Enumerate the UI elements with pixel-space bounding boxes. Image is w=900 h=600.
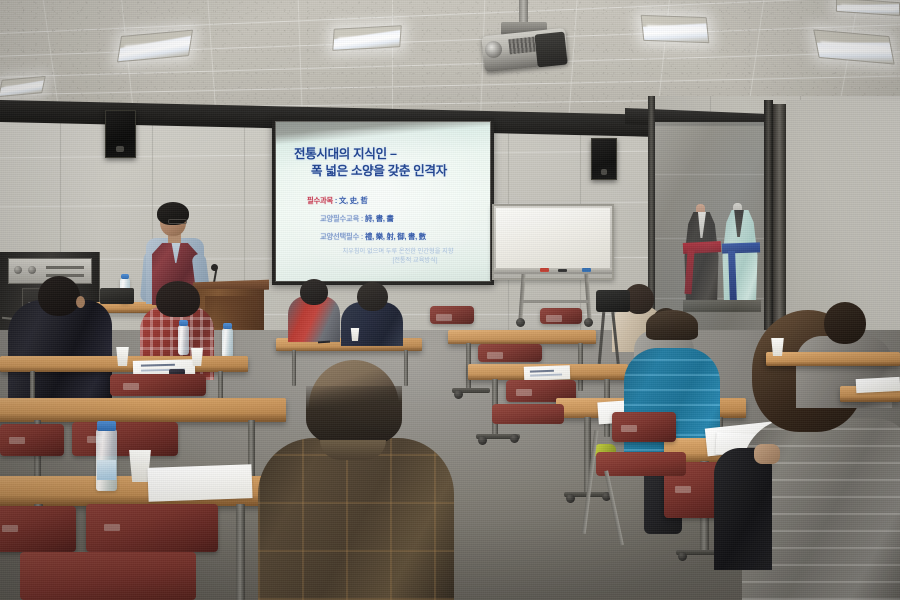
slide-footer-line1: 치우침이 없으며 두루 온전한 인간형을 지향 bbox=[342, 248, 453, 255]
marker-red[interactable] bbox=[540, 268, 549, 272]
projector-vent bbox=[508, 37, 535, 55]
whiteboard-caster bbox=[516, 318, 525, 327]
chair-back[interactable] bbox=[612, 412, 676, 442]
ceiling-light-panel bbox=[641, 15, 710, 43]
bottle-cap bbox=[179, 320, 188, 326]
table-leg bbox=[404, 350, 408, 386]
water-bottle[interactable] bbox=[222, 328, 233, 358]
slide-title-line1: 전통시대의 지식인 – bbox=[294, 147, 397, 161]
bottle-cap bbox=[97, 421, 116, 431]
chair-back[interactable] bbox=[110, 374, 206, 396]
laptop-closed[interactable] bbox=[100, 288, 134, 304]
table-far-right bbox=[766, 352, 900, 366]
table-caster bbox=[478, 436, 487, 445]
whiteboard-tray bbox=[494, 268, 612, 274]
table-front-left bbox=[0, 398, 286, 422]
table-leg bbox=[236, 504, 245, 600]
lecture-room-photo: 전통시대의 지식인 – 폭 넓은 소양을 갖춘 인격자 필수과목 : 文, 史,… bbox=[0, 0, 900, 600]
chair-back[interactable] bbox=[0, 506, 76, 552]
attendee-gray-vest-sleeve bbox=[714, 448, 772, 570]
av-knob[interactable] bbox=[14, 266, 22, 274]
attendee-suit-left-head bbox=[38, 276, 80, 316]
chair-back[interactable] bbox=[540, 308, 582, 324]
attendee-red-gray-coat-head bbox=[300, 279, 328, 305]
attendee-tweed-front-hair bbox=[306, 386, 402, 448]
table-leg bbox=[292, 350, 296, 386]
attendee-tweed-front-body bbox=[258, 438, 454, 600]
display-case-mullion bbox=[764, 100, 773, 352]
attendee-gray-vest-hand bbox=[754, 444, 780, 464]
slide-bullet-3-sep: : bbox=[359, 232, 365, 241]
slide-bullet-2-hanja: 詩, 書, 畵 bbox=[365, 214, 394, 223]
slide-bullet-2: 교양필수교육 : 詩, 書, 畵 bbox=[320, 214, 394, 223]
bottle-cap bbox=[223, 323, 232, 329]
chair-seat[interactable] bbox=[596, 452, 686, 476]
attendee-suit-left-ear bbox=[76, 296, 85, 308]
bottle-label bbox=[97, 460, 116, 480]
water-bottle[interactable] bbox=[178, 325, 189, 355]
handout-paper[interactable] bbox=[147, 464, 252, 502]
attendee-plaid-woman-head bbox=[156, 281, 200, 317]
marker-black[interactable] bbox=[558, 269, 567, 272]
slide-bullet-2-label: 교양필수교육 bbox=[320, 214, 359, 223]
glasses-icon bbox=[168, 219, 187, 224]
whiteboard-surface[interactable] bbox=[496, 208, 610, 268]
slide-bullet-1: 필수과목 : 文, 史, 哲 bbox=[307, 196, 368, 205]
slide-footer: 치우침이 없으며 두루 온전한 인간형을 지향 [전통적 교육방식] bbox=[318, 248, 478, 265]
marker-blue[interactable] bbox=[582, 268, 591, 272]
chair-seat[interactable] bbox=[492, 404, 564, 424]
slide-title: 전통시대의 지식인 – 폭 넓은 소양을 갖춘 인격자 bbox=[294, 146, 484, 180]
chair-back[interactable] bbox=[478, 344, 542, 362]
video-camera-icon bbox=[596, 290, 630, 312]
whiteboard-stand-brace bbox=[522, 300, 588, 303]
projector-rear-panel bbox=[534, 32, 567, 68]
attendee-charcoal-coat-head bbox=[824, 302, 866, 344]
handout-paper[interactable] bbox=[524, 365, 570, 381]
whiteboard-caster bbox=[584, 318, 593, 327]
ceiling-light-panel bbox=[332, 25, 402, 51]
chair-seat[interactable] bbox=[20, 552, 196, 600]
handout-paper[interactable] bbox=[856, 377, 900, 393]
loudspeaker-icon bbox=[591, 138, 617, 180]
microphone-icon[interactable] bbox=[211, 264, 218, 271]
bottle-cap bbox=[121, 274, 129, 279]
slide-bullet-3-label: 교양선택필수 bbox=[320, 232, 359, 241]
av-knob[interactable] bbox=[28, 266, 36, 274]
slide-bullet-1-label: 필수과목 bbox=[307, 196, 333, 205]
chair-back[interactable] bbox=[0, 424, 64, 456]
loudspeaker-icon bbox=[105, 110, 136, 158]
right-door-frame bbox=[773, 104, 786, 348]
slide-title-line2: 폭 넓은 소양을 갖춘 인격자 bbox=[294, 163, 484, 180]
slide-bullet-2-sep: : bbox=[359, 214, 365, 223]
attendee-teal-puffer-hair bbox=[646, 310, 698, 340]
table-caster bbox=[566, 494, 575, 503]
chair-back[interactable] bbox=[430, 306, 474, 324]
slide-footer-line2: [전통적 교육방식] bbox=[318, 257, 478, 266]
slide-bullet-3-hanja: 禮, 樂, 射, 御, 書, 數 bbox=[365, 232, 426, 241]
attendee-tweed-front-collar bbox=[320, 440, 386, 460]
table-center-right bbox=[448, 330, 596, 344]
table-caster bbox=[454, 390, 463, 399]
slide-bullet-3: 교양선택필수 : 禮, 樂, 射, 御, 書, 數 bbox=[320, 232, 426, 241]
chair-back[interactable] bbox=[86, 504, 218, 552]
attendee-navy-jacket-head bbox=[357, 282, 388, 311]
slide-bullet-1-hanja: 文, 史, 哲 bbox=[339, 196, 368, 205]
av-slot bbox=[46, 266, 84, 269]
table-caster bbox=[510, 434, 519, 443]
display-case-pedestal bbox=[683, 300, 761, 312]
table-caster bbox=[678, 552, 687, 561]
chair-back[interactable] bbox=[72, 422, 178, 456]
